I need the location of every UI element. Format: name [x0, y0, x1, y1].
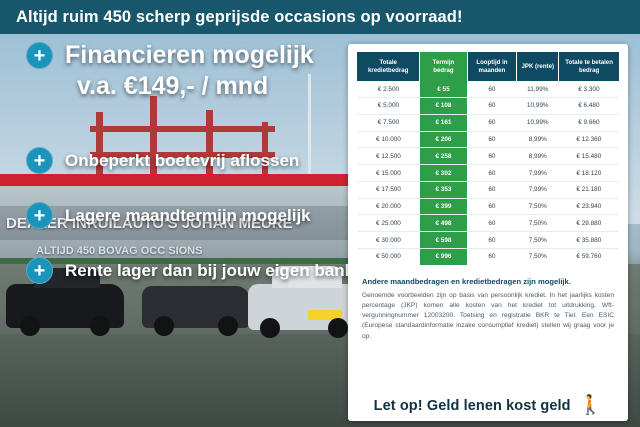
table-cell: € 29.880	[559, 215, 619, 232]
rates-card: Totale kredietbedrag Termijn bedrag Loop…	[348, 44, 628, 421]
table-cell: 8,99%	[517, 148, 559, 165]
wheel	[154, 316, 174, 336]
rates-table: Totale kredietbedrag Termijn bedrag Loop…	[357, 52, 619, 265]
column-header-total-credit: Totale kredietbedrag	[357, 52, 420, 81]
table-cell: 60	[467, 165, 517, 182]
table-cell: 11,99%	[517, 81, 559, 97]
table-cell: € 17.500	[357, 181, 420, 198]
wheel	[20, 316, 40, 336]
table-cell: € 18.120	[559, 165, 619, 182]
table-cell: € 399	[420, 198, 467, 215]
table-cell: € 2.500	[357, 81, 420, 97]
table-cell: € 598	[420, 232, 467, 249]
table-cell: € 15.000	[357, 165, 420, 182]
table-cell: € 10.000	[357, 131, 420, 148]
column-header-total-payable: Totale te betalen bedrag	[559, 52, 619, 81]
table-cell: 7,50%	[517, 232, 559, 249]
table-cell: 60	[467, 98, 517, 115]
bullet-label: Onbeperkt boetevrij aflossen	[65, 151, 299, 171]
car-dark-left	[6, 284, 124, 328]
table-row: € 30.000€ 598607,50%€ 35.880	[357, 232, 619, 249]
table-cell: € 21.180	[559, 181, 619, 198]
note-body: Genoemde voorbeelden zijn op basis van p…	[362, 291, 614, 342]
bullet-item-2: + Lagere maandtermijn mogelijk	[26, 202, 344, 229]
warning-text: Let op! Geld lenen kost geld	[374, 398, 571, 414]
table-header-row: Totale kredietbedrag Termijn bedrag Loop…	[357, 52, 619, 81]
table-row: € 2.500€ 556011,99%€ 3.300	[357, 81, 619, 97]
table-cell: € 55	[420, 81, 467, 97]
table-row: € 25.000€ 498607,50%€ 29.880	[357, 215, 619, 232]
warning-row: Let op! Geld lenen kost geld 🚶	[348, 396, 628, 415]
table-cell: € 161	[420, 114, 467, 131]
table-cell: € 35.880	[559, 232, 619, 249]
wheel	[90, 316, 110, 336]
table-cell: 60	[467, 232, 517, 249]
top-banner: Altijd ruim 450 scherp geprijsde occasio…	[0, 0, 640, 34]
table-cell: 60	[467, 198, 517, 215]
table-cell: 60	[467, 249, 517, 265]
table-cell: 8,99%	[517, 131, 559, 148]
offer-list: + Financieren mogelijk v.a. €149,- / mnd…	[26, 42, 344, 284]
table-cell: € 6.480	[559, 98, 619, 115]
headline-row: + Financieren mogelijk	[26, 42, 344, 69]
table-cell: € 258	[420, 148, 467, 165]
table-cell: 60	[467, 181, 517, 198]
table-cell: € 206	[420, 131, 467, 148]
table-row: € 15.000€ 302607,99%€ 18.120	[357, 165, 619, 182]
plus-icon: +	[26, 147, 53, 174]
table-cell: € 9.660	[559, 114, 619, 131]
table-cell: 60	[467, 81, 517, 97]
table-cell: € 23.940	[559, 198, 619, 215]
table-cell: € 5.000	[357, 98, 420, 115]
table-row: € 12.500€ 258608,99%€ 15.480	[357, 148, 619, 165]
table-cell: € 7.500	[357, 114, 420, 131]
column-header-apr: JPK (rente)	[517, 52, 559, 81]
table-cell: € 108	[420, 98, 467, 115]
table-cell: € 12.500	[357, 148, 420, 165]
bullet-item-1: + Onbeperkt boetevrij aflossen	[26, 147, 344, 174]
table-row: € 10.000€ 206608,99%€ 12.360	[357, 131, 619, 148]
table-row: € 50.000€ 996607,50%€ 59.760	[357, 249, 619, 265]
rates-table-body: € 2.500€ 556011,99%€ 3.300€ 5.000€ 10860…	[357, 81, 619, 265]
table-cell: € 15.480	[559, 148, 619, 165]
plus-icon: +	[26, 42, 53, 69]
table-cell: 7,99%	[517, 165, 559, 182]
table-cell: € 302	[420, 165, 467, 182]
table-row: € 7.500€ 1616010,99%€ 9.660	[357, 114, 619, 131]
table-cell: € 30.000	[357, 232, 420, 249]
table-cell: € 50.000	[357, 249, 420, 265]
table-row: € 17.500€ 353607,99%€ 21.180	[357, 181, 619, 198]
offer-subheadline: v.a. €149,- / mnd	[77, 73, 344, 99]
table-cell: 7,50%	[517, 215, 559, 232]
table-cell: 7,50%	[517, 198, 559, 215]
bullet-label: Lagere maandtermijn mogelijk	[65, 206, 311, 226]
table-cell: 10,99%	[517, 114, 559, 131]
wheel	[218, 316, 238, 336]
table-cell: 60	[467, 114, 517, 131]
table-cell: € 20.000	[357, 198, 420, 215]
table-cell: 60	[467, 215, 517, 232]
note-title: Andere maandbedragen en kredietbedragen …	[362, 277, 614, 286]
table-cell: 60	[467, 148, 517, 165]
table-cell: 7,50%	[517, 249, 559, 265]
table-cell: € 12.360	[559, 131, 619, 148]
table-row: € 5.000€ 1086010,99%€ 6.480	[357, 98, 619, 115]
table-cell: 60	[467, 131, 517, 148]
wheel	[328, 318, 348, 338]
car-dark-middle	[142, 286, 250, 328]
table-cell: € 59.760	[559, 249, 619, 265]
table-cell: € 25.000	[357, 215, 420, 232]
wheel	[260, 318, 280, 338]
column-header-monthly-amount: Termijn bedrag	[420, 52, 467, 81]
plus-icon: +	[26, 257, 53, 284]
bullet-label: Rente lager dan bij jouw eigen bank	[65, 261, 354, 281]
table-cell: € 353	[420, 181, 467, 198]
table-cell: € 498	[420, 215, 467, 232]
poster: Altijd ruim 450 scherp geprijsde occasio…	[0, 0, 640, 427]
table-cell: € 3.300	[559, 81, 619, 97]
pedestrian-icon: 🚶	[579, 396, 603, 415]
table-row: € 20.000€ 399607,50%€ 23.940	[357, 198, 619, 215]
bullet-item-3: + Rente lager dan bij jouw eigen bank	[26, 257, 344, 284]
plus-icon: +	[26, 202, 53, 229]
column-header-duration: Looptijd in maanden	[467, 52, 517, 81]
table-cell: 10,99%	[517, 98, 559, 115]
car-white-suv	[248, 284, 360, 330]
table-cell: 7,99%	[517, 181, 559, 198]
offer-headline: Financieren mogelijk	[65, 42, 314, 68]
banner-text: Altijd ruim 450 scherp geprijsde occasio…	[0, 8, 463, 27]
table-cell: € 996	[420, 249, 467, 265]
